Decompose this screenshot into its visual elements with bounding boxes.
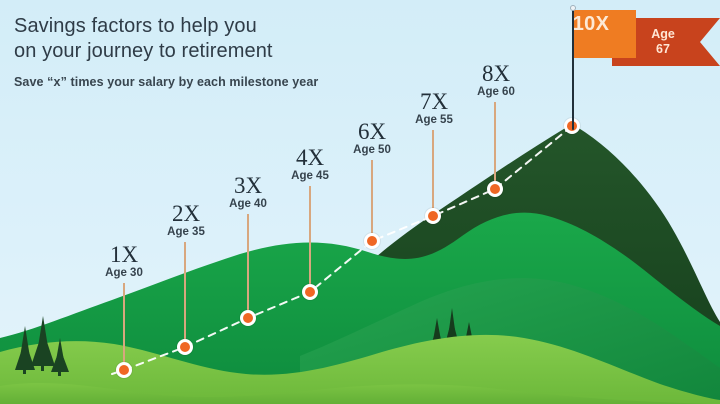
flag-pole xyxy=(572,8,574,130)
flag-age-label: Age 67 xyxy=(632,18,694,66)
milestone-age: Age 40 xyxy=(229,198,267,211)
milestone-age: Age 50 xyxy=(353,144,391,157)
milestone-factor: 8X xyxy=(477,62,515,85)
summit-flag: 10X Age 67 xyxy=(560,0,720,140)
milestone-leader-line-7 xyxy=(494,102,496,181)
milestone-factor: 4X xyxy=(291,146,329,169)
milestone-label-5: 6XAge 50 xyxy=(353,120,391,157)
milestone-leader-line-6 xyxy=(432,130,434,208)
milestone-dot-2 xyxy=(177,339,193,355)
milestone-dot-1 xyxy=(116,362,132,378)
milestone-factor: 2X xyxy=(167,202,205,225)
milestone-dot-6 xyxy=(425,208,441,224)
flag-pole-cap-icon xyxy=(570,5,576,11)
milestone-leader-line-1 xyxy=(123,283,125,362)
milestone-label-7: 8XAge 60 xyxy=(477,62,515,99)
milestone-label-4: 4XAge 45 xyxy=(291,146,329,183)
milestone-factor: 6X xyxy=(353,120,391,143)
milestone-factor: 3X xyxy=(229,174,267,197)
milestone-age: Age 55 xyxy=(415,114,453,127)
milestone-dot-4 xyxy=(302,284,318,300)
milestone-label-2: 2XAge 35 xyxy=(167,202,205,239)
milestone-leader-line-3 xyxy=(247,214,249,310)
page-subtitle: Save “x” times your salary by each miles… xyxy=(14,75,414,89)
milestone-label-3: 3XAge 40 xyxy=(229,174,267,211)
milestone-label-6: 7XAge 55 xyxy=(415,90,453,127)
milestone-dot-3 xyxy=(240,310,256,326)
milestone-age: Age 30 xyxy=(105,267,143,280)
milestone-dot-7 xyxy=(487,181,503,197)
flag-age-line2: 67 xyxy=(656,42,670,57)
milestone-factor: 1X xyxy=(105,243,143,266)
heading-block: Savings factors to help you on your jour… xyxy=(14,14,414,89)
milestone-leader-line-2 xyxy=(184,242,186,339)
milestone-leader-line-5 xyxy=(371,160,373,233)
page-title: Savings factors to help you on your jour… xyxy=(14,14,414,64)
milestone-dot-5 xyxy=(364,233,380,249)
milestone-age: Age 60 xyxy=(477,86,515,99)
milestone-leader-line-4 xyxy=(309,186,311,284)
flag-age-line1: Age xyxy=(651,27,675,42)
savings-factors-infographic: Savings factors to help you on your jour… xyxy=(0,0,720,404)
milestone-label-1: 1XAge 30 xyxy=(105,243,143,280)
milestone-factor: 7X xyxy=(415,90,453,113)
milestone-age: Age 35 xyxy=(167,226,205,239)
milestone-age: Age 45 xyxy=(291,170,329,183)
